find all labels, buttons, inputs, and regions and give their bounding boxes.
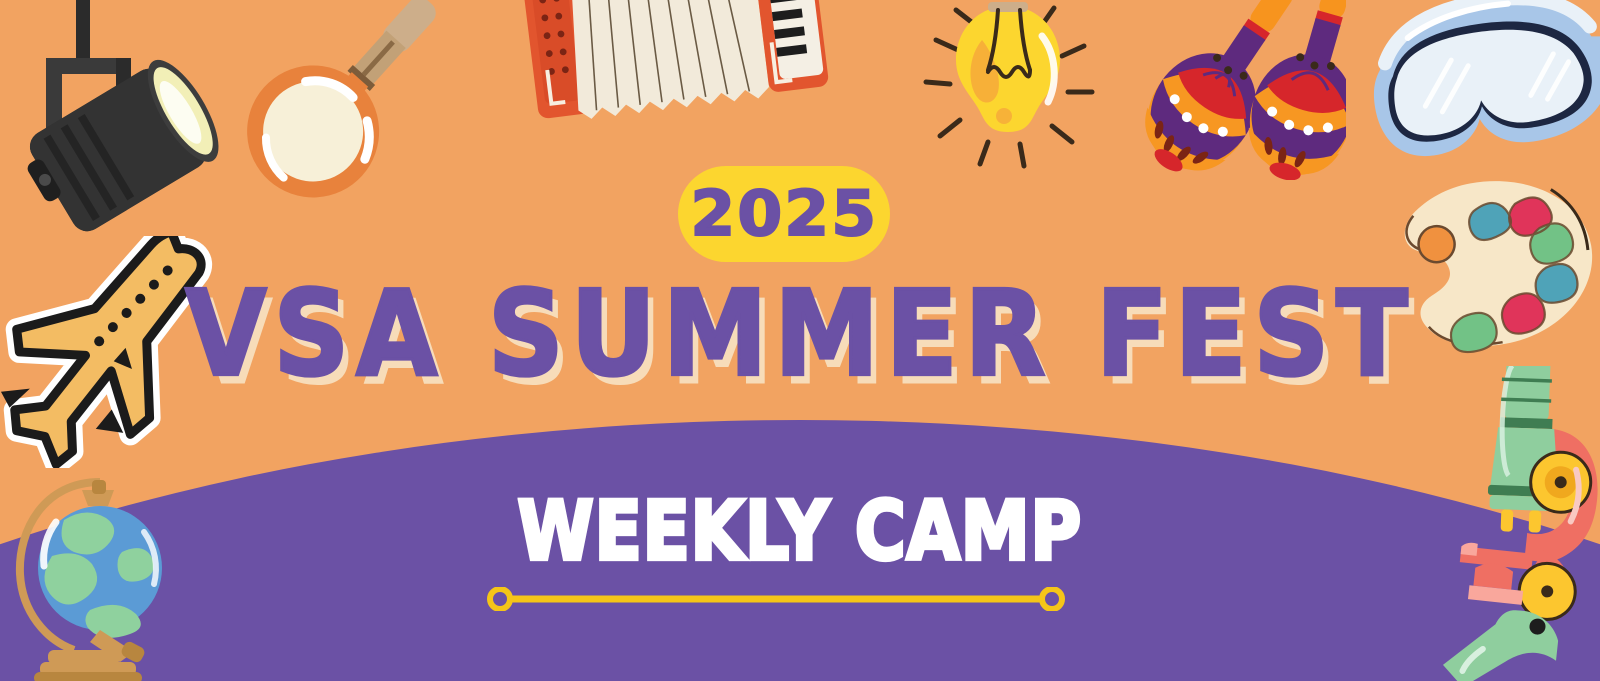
subtitle-block: WEEKLY CAMP: [0, 494, 1600, 569]
page-title: VSA SUMMER FEST: [0, 276, 1600, 394]
divider-line: [486, 587, 1066, 611]
subtitle-text: WEEKLY CAMP: [518, 491, 1082, 572]
year-badge-text: 2025: [690, 183, 878, 245]
year-badge: 2025: [678, 166, 890, 262]
summer-fest-banner: 2025 VSA SUMMER FEST WEEKLY CAMP: [0, 0, 1600, 681]
